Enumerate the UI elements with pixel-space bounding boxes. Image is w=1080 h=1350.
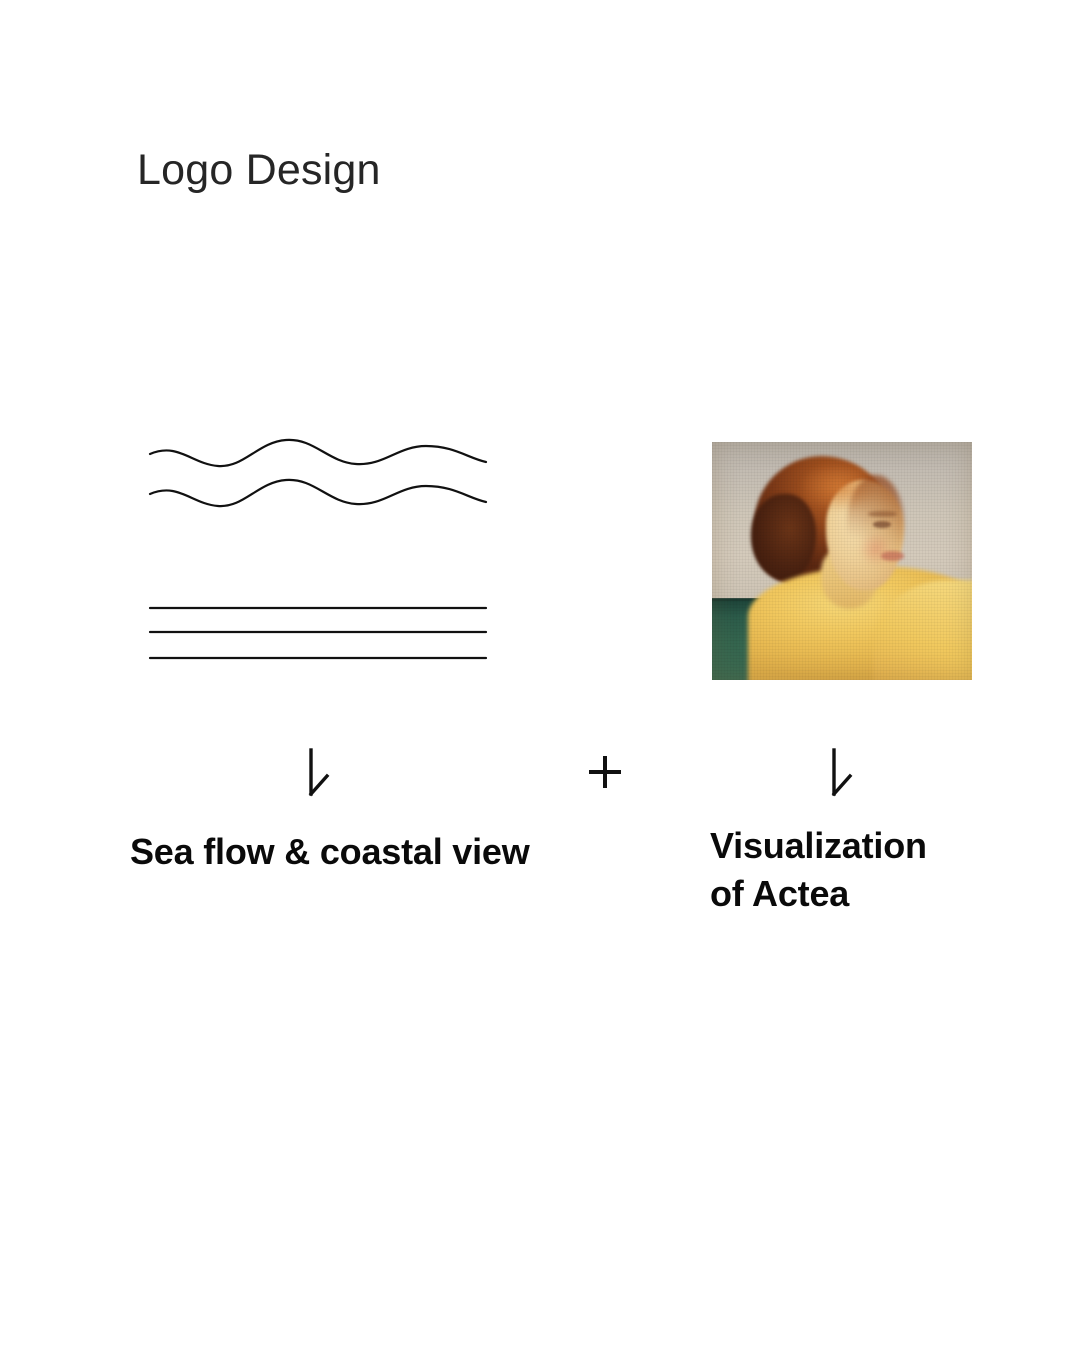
logo-design-slide: Logo Design	[0, 0, 1080, 1350]
painting-hair-edge	[847, 475, 904, 570]
sea-flow-line-mark	[146, 438, 490, 678]
painting-hair-bun	[751, 494, 816, 580]
caption-visualization-line-1: Visualization	[710, 822, 1000, 870]
page-title: Logo Design	[137, 146, 381, 195]
wave-line-2	[150, 480, 486, 506]
plus-icon	[589, 756, 621, 788]
caption-visualization-line-2: of Actea	[710, 870, 1000, 918]
arrow-down-icon-left	[293, 748, 333, 804]
wave-line-1	[150, 440, 486, 466]
caption-visualization: Visualization of Actea	[710, 822, 1000, 917]
painting-canvas	[712, 442, 972, 680]
reference-painting-image	[712, 442, 972, 680]
arrow-down-icon-right	[816, 748, 856, 804]
caption-sea-flow: Sea flow & coastal view	[130, 828, 530, 876]
wave-lines-graphic	[146, 438, 490, 678]
